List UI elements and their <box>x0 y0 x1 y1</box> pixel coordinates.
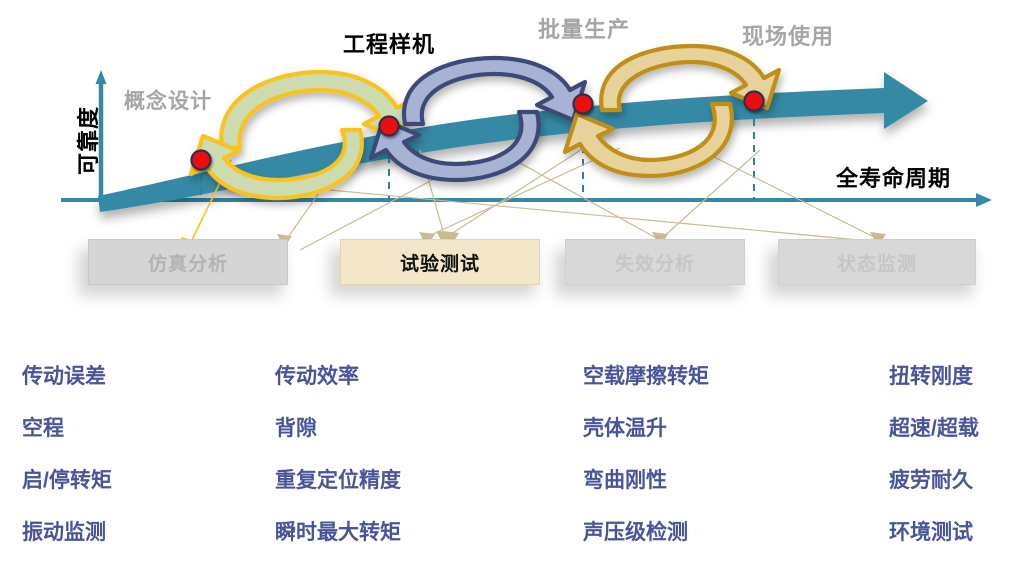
stage-label-field-use: 现场使用 <box>742 26 834 48</box>
keyword-item: 疲劳耐久 <box>889 470 973 491</box>
keyword-column-3: 空载摩擦转矩 壳体温升 弯曲刚性 声压级检测 <box>583 352 843 563</box>
connector-h <box>330 190 880 242</box>
process-box-testing[interactable]: 试验测试 <box>340 239 540 285</box>
keyword-column-4: 扭转刚度 超速/超载 疲劳耐久 环境测试 <box>889 352 1013 563</box>
connector-f <box>700 150 880 240</box>
process-box-failure-analysis[interactable]: 失效分析 <box>565 239 745 285</box>
milestone-dot-3 <box>574 95 593 114</box>
keyword-item: 瞬时最大转矩 <box>275 522 401 543</box>
y-axis-arrowhead <box>96 70 107 84</box>
milestone-dot-1 <box>192 151 211 170</box>
keyword-item: 扭转刚度 <box>889 366 973 387</box>
keyword-item: 重复定位精度 <box>275 470 401 491</box>
keyword-item: 壳体温升 <box>583 418 667 439</box>
keyword-column-2: 传动效率 背隙 重复定位精度 瞬时最大转矩 <box>275 352 525 563</box>
x-axis-arrowhead <box>976 193 992 207</box>
keyword-item: 空载摩擦转矩 <box>583 366 709 387</box>
x-axis-title: 全寿命周期 <box>836 168 951 190</box>
keyword-item: 环境测试 <box>889 522 973 543</box>
lifecycle-reliability-diagram: 可靠度 全寿命周期 概念设计 工程样机 批量生产 现场使用 仿真分析 试验测试 … <box>0 0 1013 320</box>
keyword-item: 背隙 <box>275 418 317 439</box>
process-box-condition-monitoring[interactable]: 状态监测 <box>778 239 976 285</box>
keyword-item: 声压级检测 <box>583 522 688 543</box>
keyword-item: 弯曲刚性 <box>583 470 667 491</box>
keyword-item: 启/停转矩 <box>22 470 112 491</box>
stage-label-mass-production: 批量生产 <box>538 19 630 41</box>
stage-label-engineering-prototype: 工程样机 <box>343 34 435 56</box>
keyword-item: 超速/超载 <box>889 418 979 439</box>
y-axis-title: 可靠度 <box>78 106 100 175</box>
slide-canvas: 可靠度 全寿命周期 概念设计 工程样机 批量生产 现场使用 仿真分析 试验测试 … <box>0 0 1013 563</box>
process-box-simulation[interactable]: 仿真分析 <box>88 239 288 285</box>
keyword-item: 振动监测 <box>22 522 106 543</box>
test-item-keyword-grid: 传动误差 空程 启/停转矩 振动监测 传动效率 背隙 重复定位精度 瞬时最大转矩… <box>0 352 1013 563</box>
milestone-dot-4 <box>745 92 764 111</box>
milestone-dot-2 <box>380 117 399 136</box>
keyword-column-1: 传动误差 空程 启/停转矩 振动监测 <box>22 352 262 563</box>
stage-label-concept-design: 概念设计 <box>124 91 212 112</box>
keyword-item: 空程 <box>22 418 64 439</box>
keyword-item: 传动效率 <box>275 366 359 387</box>
keyword-item: 传动误差 <box>22 366 106 387</box>
